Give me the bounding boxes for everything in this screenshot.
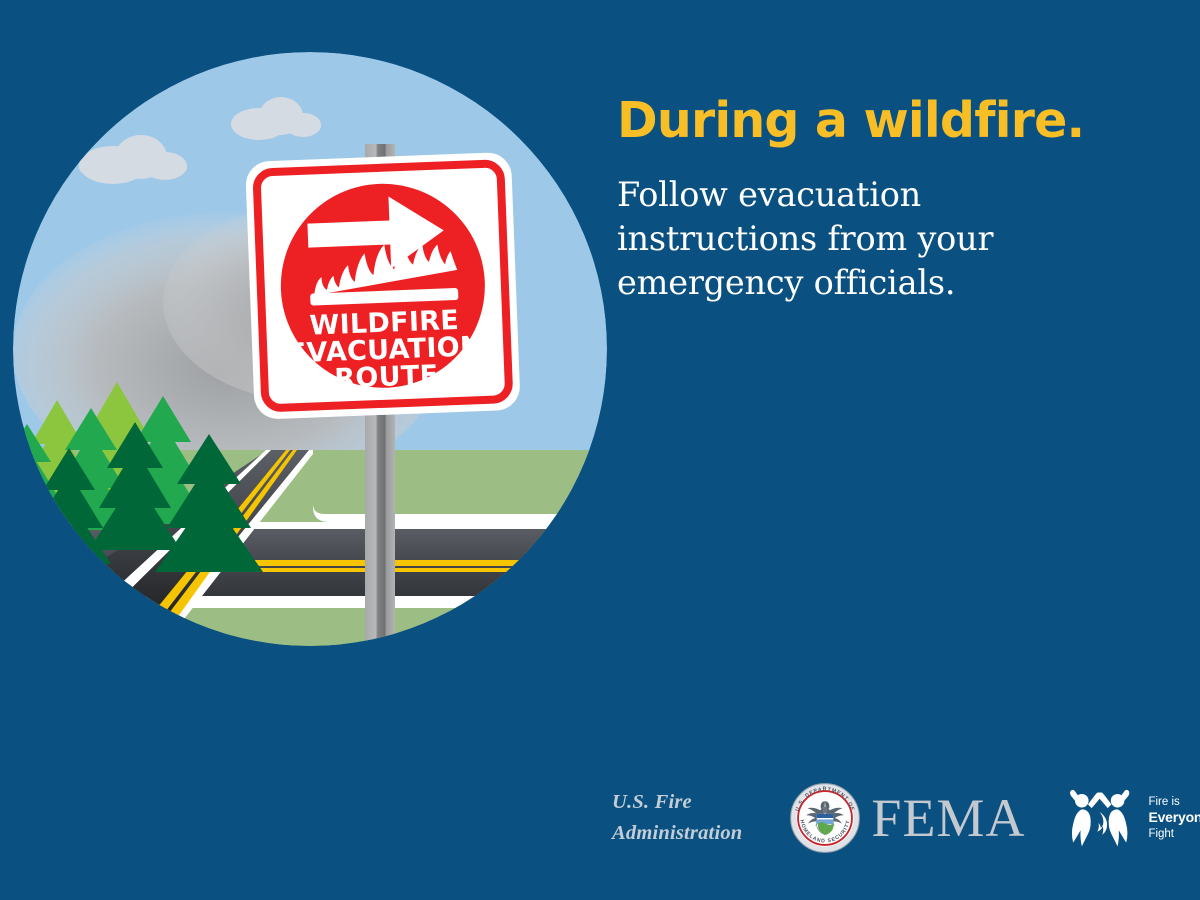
fief-line-1: Fire is [1148,795,1200,809]
sign-line-3: ROUTE [334,360,439,395]
body-line-3: emergency officials. [617,261,1137,305]
fief-line-3: Fight [1148,827,1200,841]
page-headline: During a wildfire. [617,96,1137,146]
grass-patch-upper [313,450,607,522]
footer-logo-lockup: U.S. Fire Administration U.S. DEPARTMENT… [612,772,1172,864]
fema-wordmark: FEMA [871,791,1025,845]
fief-tagline: Fire is Everyone's Fight [1148,795,1200,842]
fire-is-everyones-fight-logo: Fire is Everyone's Fight [1067,787,1200,849]
evacuation-route-sign: WILDFIRE EVACUATION ROUTE [245,152,521,420]
usfa-wordmark: U.S. Fire Administration [612,787,742,849]
fief-line-2: Everyone's [1148,809,1200,827]
wildfire-illustration: WILDFIRE EVACUATION ROUTE [13,52,607,646]
two-figures-flame-icon [1067,787,1141,849]
dhs-seal-icon: U.S. DEPARTMENT OF HOMELAND SECURITY [790,783,860,853]
usfa-line-2: Administration [612,818,742,849]
page-body: Follow evacuation instructions from your… [617,173,1137,306]
text-column: During a wildfire. Follow evacuation ins… [617,96,1137,306]
poster-canvas: WILDFIRE EVACUATION ROUTE During a wildf… [0,0,1200,900]
body-line-1: Follow evacuation [617,173,1137,217]
usfa-line-1: U.S. Fire [612,787,742,818]
body-line-2: instructions from your [617,217,1137,261]
